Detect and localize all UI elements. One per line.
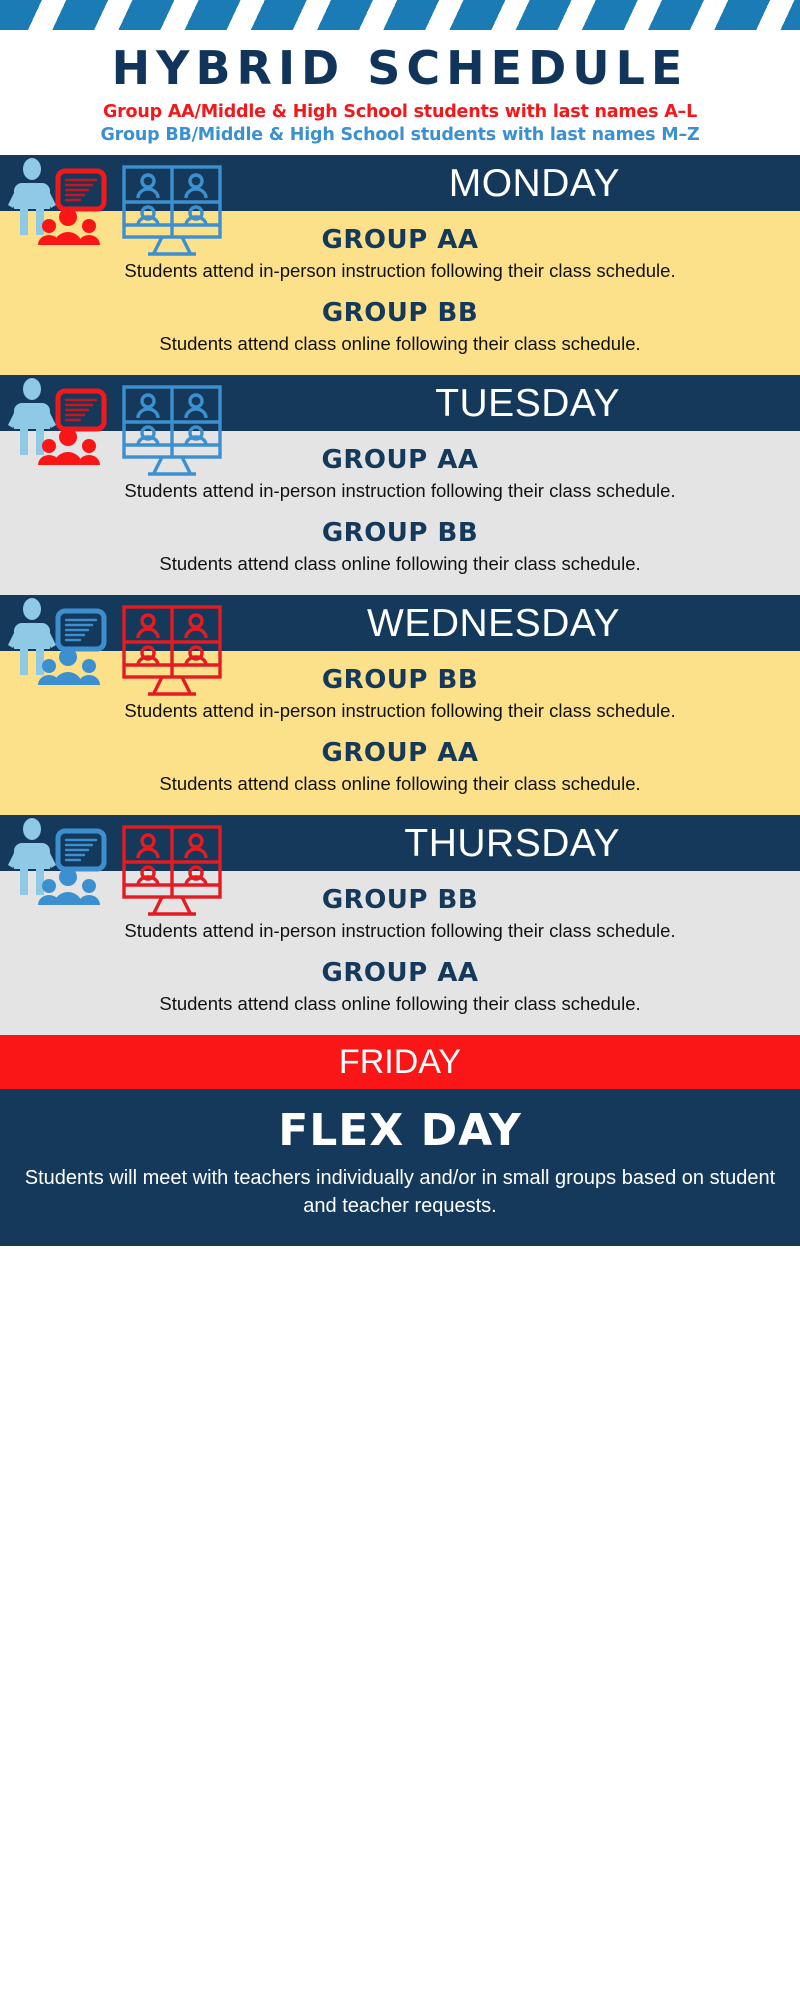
day-section-thursday: THURSDAYGROUP BBStudents attend in-perso… — [0, 815, 800, 1035]
group-description: Students attend class online following t… — [28, 552, 772, 577]
day-body: GROUP BBStudents attend in-person instru… — [0, 871, 800, 1035]
group-title: GROUP BB — [28, 518, 772, 548]
group-description: Students attend class online following t… — [28, 332, 772, 357]
flex-day-block: FLEX DAY Students will meet with teacher… — [0, 1089, 800, 1246]
friday-bar: FRIDAY — [0, 1035, 800, 1089]
subtitle-group-bb: Group BB/Middle & High School students w… — [10, 125, 790, 145]
group-title: GROUP BB — [28, 298, 772, 328]
group-title: GROUP BB — [28, 885, 772, 915]
day-header-bar: TUESDAY — [0, 375, 800, 431]
day-body: GROUP AAStudents attend in-person instru… — [0, 211, 800, 375]
day-section-wednesday: WEDNESDAYGROUP BBStudents attend in-pers… — [0, 595, 800, 815]
group-description: Students attend in-person instruction fo… — [28, 479, 772, 504]
infographic-page: HYBRID SCHEDULE Group AA/Middle & High S… — [0, 0, 800, 2000]
striped-header-banner — [0, 0, 800, 30]
days-container: MONDAYGROUP AAStudents attend in-person … — [0, 155, 800, 1035]
day-name-label: THURSDAY — [404, 824, 620, 863]
day-header-bar: THURSDAY — [0, 815, 800, 871]
day-header-bar: MONDAY — [0, 155, 800, 211]
day-name-label: WEDNESDAY — [367, 604, 620, 643]
day-name-label: MONDAY — [449, 164, 620, 203]
group-title: GROUP AA — [28, 738, 772, 768]
group-title: GROUP AA — [28, 445, 772, 475]
flex-day-description: Students will meet with teachers individ… — [24, 1164, 776, 1220]
day-header-bar: WEDNESDAY — [0, 595, 800, 651]
day-section-tuesday: TUESDAYGROUP AAStudents attend in-person… — [0, 375, 800, 595]
group-title: GROUP AA — [28, 958, 772, 988]
group-title: GROUP AA — [28, 225, 772, 255]
title-block: HYBRID SCHEDULE Group AA/Middle & High S… — [0, 30, 800, 155]
group-title: GROUP BB — [28, 665, 772, 695]
group-description: Students attend in-person instruction fo… — [28, 919, 772, 944]
flex-day-title: FLEX DAY — [24, 1105, 776, 1156]
group-description: Students attend class online following t… — [28, 992, 772, 1017]
day-name-label: TUESDAY — [435, 384, 620, 423]
page-title: HYBRID SCHEDULE — [10, 44, 790, 92]
day-body: GROUP AAStudents attend in-person instru… — [0, 431, 800, 595]
subtitle-group-aa: Group AA/Middle & High School students w… — [10, 102, 790, 122]
day-section-monday: MONDAYGROUP AAStudents attend in-person … — [0, 155, 800, 375]
friday-label: FRIDAY — [339, 1043, 461, 1082]
group-description: Students attend in-person instruction fo… — [28, 259, 772, 284]
group-description: Students attend in-person instruction fo… — [28, 699, 772, 724]
day-body: GROUP BBStudents attend in-person instru… — [0, 651, 800, 815]
group-description: Students attend class online following t… — [28, 772, 772, 797]
